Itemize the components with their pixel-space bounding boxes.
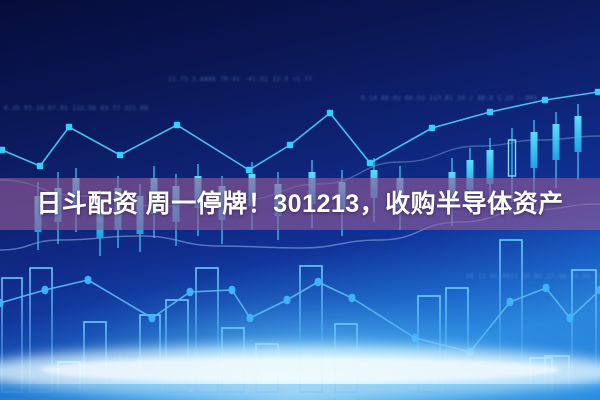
decorative-number-text: 38.12 81.0021 50.02 27.18 44.01 33.2 11.…: [466, 273, 600, 280]
decorative-number-text: 9.14 66.01 00.52 117.01 24 / 80.6 1.23 -…: [361, 95, 538, 102]
decorative-number-text: 0.25 93.14 67.91 112.56 43.77 221.08: [4, 105, 148, 112]
title-banner-band: 日斗配资 周一停牌！301213，收购半导体资产: [0, 178, 600, 230]
banner-title: 日斗配资 周一停牌！301213，收购半导体资产: [36, 192, 563, 217]
decorative-number-text: 11.73 2.6896 79.01 -41.52 12.3 +1.77: [168, 76, 312, 83]
decorative-number-text: 17.2 63.01 0.25: [78, 352, 138, 359]
stock-banner-image: 0.25 93.14 67.91 112.56 43.77 221.0811.7…: [0, 0, 600, 400]
